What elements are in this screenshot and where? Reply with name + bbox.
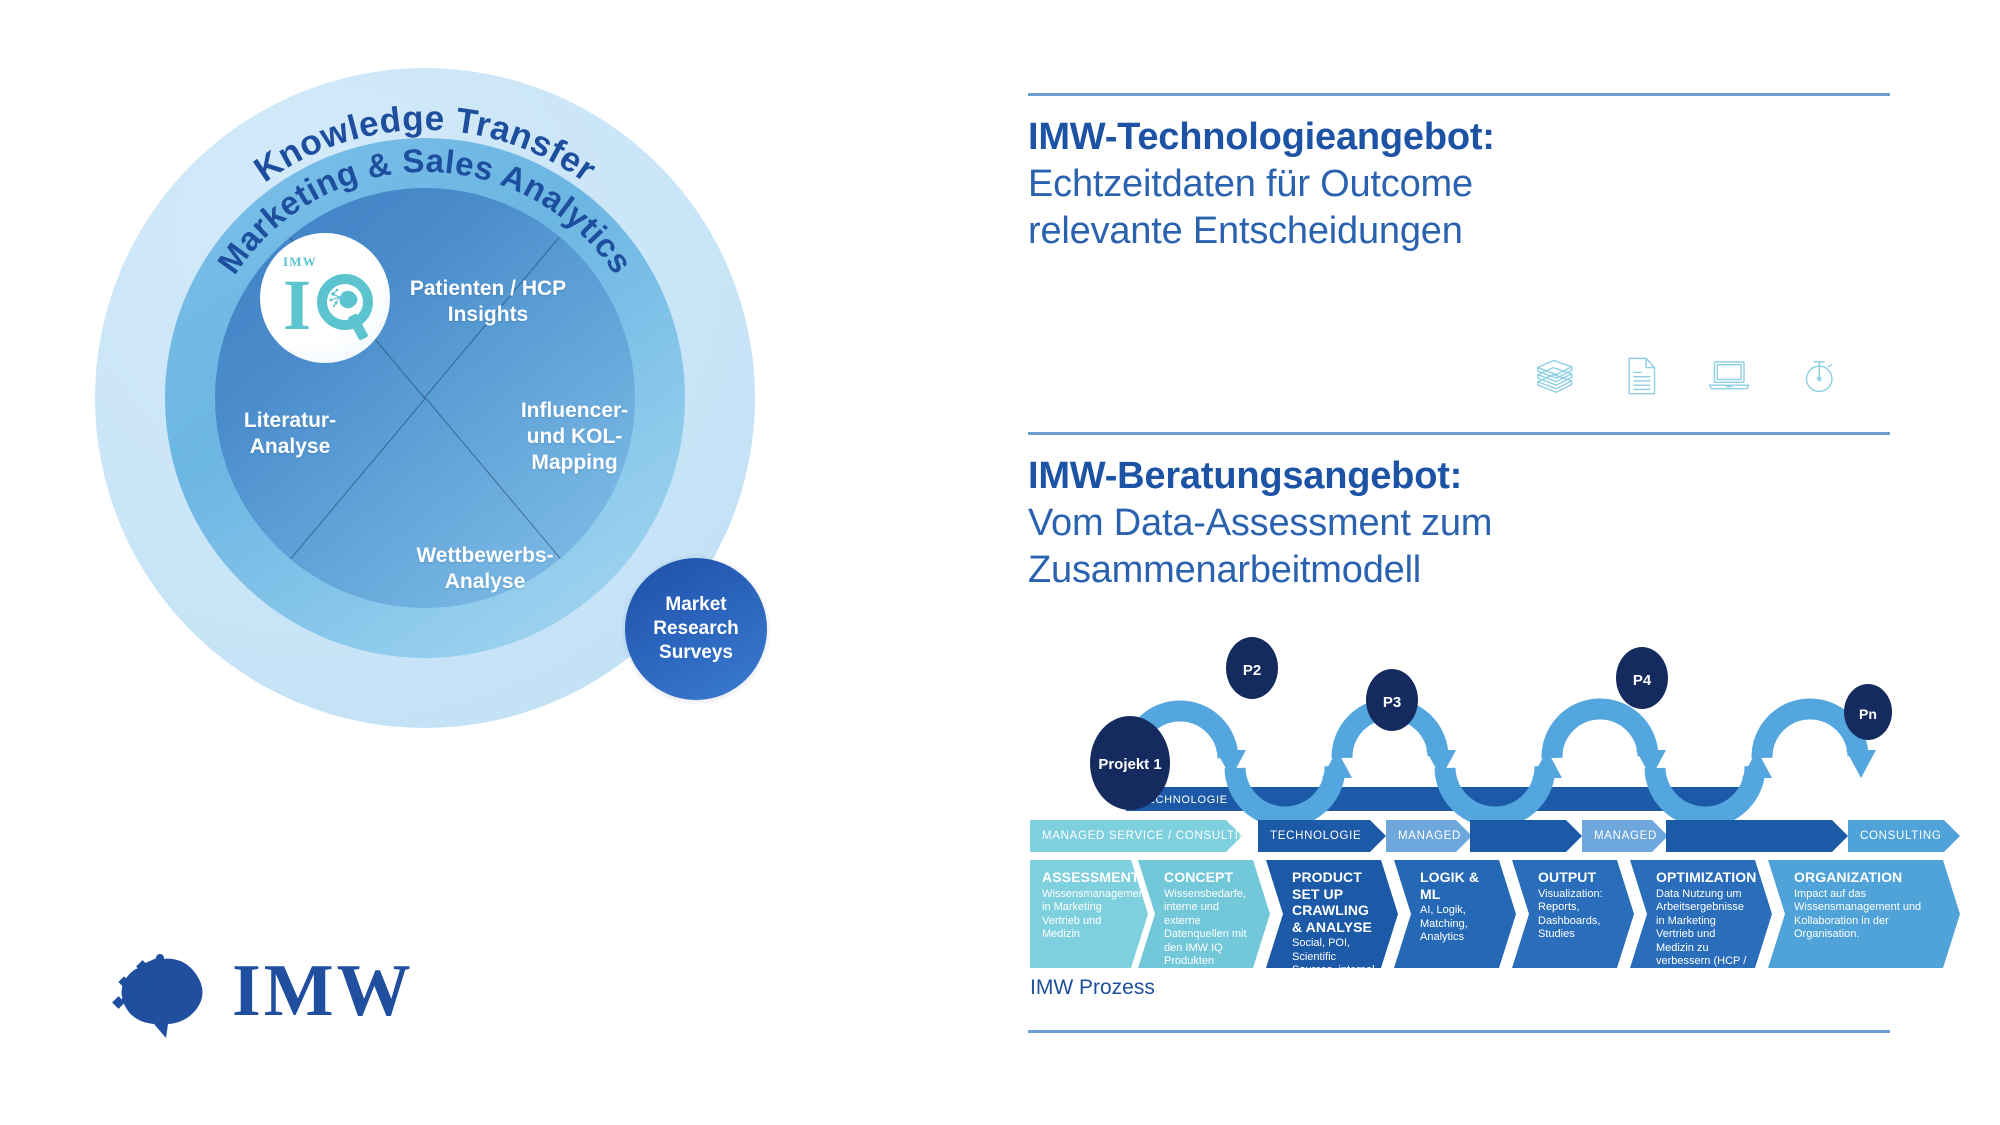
wave-node-label: Projekt 1 xyxy=(1098,756,1161,773)
concentric-circle-diagram: Knowledge Transfer Marketing & Sales Ana… xyxy=(95,68,755,728)
wave-node-p4: P4 xyxy=(1616,647,1668,709)
technology-icon-row xyxy=(1535,340,1835,412)
technologieangebot-heading: IMW-Technologieangebot: Echtzeitdaten fü… xyxy=(1028,113,1728,255)
wave-node-label: P2 xyxy=(1243,662,1261,679)
process-step-description: Social, POI, Scientific Sources, interna… xyxy=(1292,937,1378,1005)
sector-line: und KOL- xyxy=(527,425,623,448)
process-step-optimization: OPTIMIZATIONData Nutzung um Arbeitsergeb… xyxy=(1630,860,1772,968)
process-step-description: Wissensbedarfe, interne und externe Date… xyxy=(1164,888,1250,1010)
process-step-organization: ORGANIZATIONImpact auf das Wissensmanage… xyxy=(1768,860,1960,968)
wave-node-label: Pn xyxy=(1859,706,1877,722)
process-step-title: ORGANIZATION xyxy=(1794,869,1940,886)
sector-line: Analyse xyxy=(445,570,526,593)
service-band-row: MANAGED SERVICE / CONSULTINGTECHNOLOGIEM… xyxy=(1030,820,1960,854)
wave-node-pn: Pn xyxy=(1844,684,1892,740)
service-band-segment-3 xyxy=(1470,820,1582,852)
right-panel: IMW-Technologieangebot: Echtzeitdaten fü… xyxy=(1000,0,2000,1125)
wave-node-projekt-1: Projekt 1 xyxy=(1090,716,1170,810)
sector-line: Patienten / HCP xyxy=(410,277,566,300)
laptop-icon xyxy=(1708,353,1750,399)
bubble-line: Research xyxy=(653,617,739,641)
service-band-segment-5 xyxy=(1666,820,1848,852)
heading-light-line: Echtzeitdaten für Outcome xyxy=(1028,161,1728,208)
divider-top xyxy=(1028,93,1890,96)
sector-line: Influencer- xyxy=(521,399,628,422)
service-band-label: MANAGED SERVICE / CONSULTING xyxy=(1030,830,1257,842)
service-band-label: MANAGED xyxy=(1582,830,1657,842)
service-band-label: TECHNOLOGIE xyxy=(1258,830,1361,842)
service-band-label: CONSULTING xyxy=(1848,830,1942,842)
process-caption: IMW Prozess xyxy=(1030,975,1155,1001)
heading-light-line: Zusammenarbeitmodell xyxy=(1028,547,1728,594)
process-step-title: CONCEPT xyxy=(1164,869,1250,886)
service-band-technologie: TECHNOLOGIE xyxy=(1258,820,1386,852)
process-step-output: OUTPUTVisualization: Reports, Dashboards… xyxy=(1512,860,1634,968)
process-step-title: ASSESSMENT xyxy=(1042,869,1128,886)
sector-line: Wettbewerbs- xyxy=(416,544,553,567)
sector-label-patienten-hcp-insights: Patienten / HCP Insights xyxy=(363,276,613,328)
process-step-description: AI, Logik, Matching, Analytics xyxy=(1420,904,1496,945)
sector-label-wettbewerbs-analyse: Wettbewerbs- Analyse xyxy=(360,543,610,595)
process-steps-row: ASSESSMENTWissensmanagement in Marketing… xyxy=(1030,860,1960,970)
book-stack-icon xyxy=(1535,350,1575,402)
wave-node-p2: P2 xyxy=(1226,637,1278,699)
wave-node-label: P4 xyxy=(1633,672,1652,689)
process-step-title: OUTPUT xyxy=(1538,869,1614,886)
core-imw-iq-logo: IMW I xyxy=(260,233,390,363)
heading-light-line: relevante Entscheidungen xyxy=(1028,208,1728,255)
process-step-concept: CONCEPTWissensbedarfe, interne und exter… xyxy=(1138,860,1270,968)
process-step-description: Visualization: Reports, Dashboards, Stud… xyxy=(1538,888,1614,942)
stopwatch-icon xyxy=(1803,350,1835,402)
sector-line: Literatur- xyxy=(244,409,336,432)
process-step-logik-ml: LOGIK & MLAI, Logik, Matching, Analytics xyxy=(1394,860,1516,968)
document-icon xyxy=(1627,349,1657,403)
wave-node-label: P3 xyxy=(1383,694,1401,711)
brain-network-logo-icon xyxy=(110,948,222,1038)
bubble-market-research-surveys: Market Research Surveys xyxy=(625,558,767,700)
project-wave-diagram: TECHNOLOGIE xyxy=(1030,630,1960,830)
imw-wordmark: IMW xyxy=(232,954,414,1028)
heading-bold-line: IMW-Technologieangebot: xyxy=(1028,113,1728,161)
heading-bold-line: IMW-Beratungsangebot: xyxy=(1028,452,1728,500)
service-band-managed: MANAGED xyxy=(1582,820,1668,852)
process-step-title: LOGIK & ML xyxy=(1420,869,1496,902)
process-step-assessment: ASSESSMENTWissensmanagement in Marketing… xyxy=(1030,860,1148,968)
process-step-product-set-up-crawling-analyse: PRODUCT SET UP CRAWLING & ANALYSESocial,… xyxy=(1266,860,1398,968)
bubble-line: Surveys xyxy=(653,641,739,665)
beratungsangebot-heading: IMW-Beratungsangebot: Vom Data-Assessmen… xyxy=(1028,452,1728,594)
imw-brand-logo: IMW xyxy=(110,948,430,1040)
process-step-title: OPTIMIZATION xyxy=(1656,869,1752,886)
service-band-managed: MANAGED xyxy=(1386,820,1472,852)
process-step-description: Impact auf das Wissensmanagement und Kol… xyxy=(1794,888,1940,942)
sector-line: Insights xyxy=(448,303,529,326)
wave-node-p3: P3 xyxy=(1366,669,1418,731)
process-step-description: Data Nutzung um Arbeitsergebnisse in Mar… xyxy=(1656,888,1752,983)
sector-line: Analyse xyxy=(250,435,331,458)
bubble-line: Market xyxy=(653,593,739,617)
heading-light-line: Vom Data-Assessment zum xyxy=(1028,500,1728,547)
left-panel: Knowledge Transfer Marketing & Sales Ana… xyxy=(0,0,1000,1125)
sector-label-literatur-analyse: Literatur- Analyse xyxy=(205,408,375,460)
service-band-managed-service-consulting: MANAGED SERVICE / CONSULTING xyxy=(1030,820,1242,852)
divider-bottom xyxy=(1028,1030,1890,1033)
divider-middle xyxy=(1028,432,1890,435)
process-step-title: PRODUCT SET UP CRAWLING & ANALYSE xyxy=(1292,869,1378,935)
sector-label-influencer-kol-mapping: Influencer- und KOL- Mapping xyxy=(487,398,662,476)
service-band-consulting: CONSULTING xyxy=(1848,820,1960,852)
iq-letter-i: I xyxy=(283,269,311,341)
service-band-label: MANAGED xyxy=(1386,830,1461,842)
process-step-description: Wissensmanagement in Marketing Vertrieb … xyxy=(1042,888,1128,942)
brain-network-icon xyxy=(328,285,362,315)
sector-line: Mapping xyxy=(531,451,617,474)
